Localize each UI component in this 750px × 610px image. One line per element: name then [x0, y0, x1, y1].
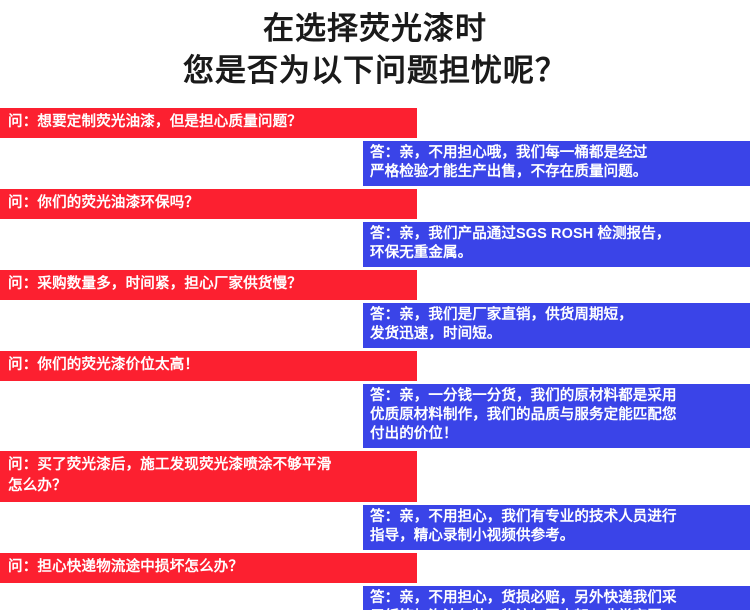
faq-question: 问：买了荧光漆后，施工发现荧光漆喷涂不够平滑 怎么办？ [0, 451, 417, 502]
faq-question: 问：你们的荧光漆价位太高！ [0, 351, 417, 381]
faq-item: 问：想要定制荧光油漆，但是担心质量问题？ 答：亲，不用担心哦，我们每一桶都是经过… [0, 108, 750, 189]
faq-promo-page: 在选择荧光漆时 您是否为以下问题担忧呢？ 问：想要定制荧光油漆，但是担心质量问题… [0, 0, 750, 610]
faq-answer: 答：亲，我们产品通过SGS ROSH 检测报告， 环保无重金属。 [363, 222, 750, 267]
faq-item: 问：担心快递物流途中损坏怎么办？ 答：亲，不用担心，货损必赔，另外快递我们采 用… [0, 553, 750, 610]
faq-answer: 答：亲，一分钱一分货，我们的原材料都是采用 优质原材料制作，我们的品质与服务定能… [363, 384, 750, 448]
faq-list: 问：想要定制荧光油漆，但是担心质量问题？ 答：亲，不用担心哦，我们每一桶都是经过… [0, 108, 750, 610]
faq-answer: 答：亲，我们是厂家直销，供货周期短， 发货迅速，时间短。 [363, 303, 750, 348]
faq-answer: 答：亲，不用担心，我们有专业的技术人员进行 指导，精心录制小视频供参考。 [363, 505, 750, 550]
page-header: 在选择荧光漆时 您是否为以下问题担忧呢？ [0, 0, 750, 92]
faq-question: 问：担心快递物流途中损坏怎么办？ [0, 553, 417, 583]
page-title-line-2: 您是否为以下问题担忧呢？ [0, 50, 750, 92]
page-title-line-1: 在选择荧光漆时 [0, 8, 750, 50]
faq-item: 问：采购数量多，时间紧，担心厂家供货慢？ 答：亲，我们是厂家直销，供货周期短， … [0, 270, 750, 351]
faq-answer: 答：亲，不用担心，货损必赔，另外快递我们采 用纸箱加泡沫包装，物流加固木架，非常… [363, 586, 750, 610]
faq-question: 问：采购数量多，时间紧，担心厂家供货慢？ [0, 270, 417, 300]
faq-question: 问：想要定制荧光油漆，但是担心质量问题？ [0, 108, 417, 138]
faq-item: 问：买了荧光漆后，施工发现荧光漆喷涂不够平滑 怎么办？ 答：亲，不用担心，我们有… [0, 451, 750, 553]
faq-answer: 答：亲，不用担心哦，我们每一桶都是经过 严格检验才能生产出售，不存在质量问题。 [363, 141, 750, 186]
faq-item: 问：你们的荧光漆价位太高！ 答：亲，一分钱一分货，我们的原材料都是采用 优质原材… [0, 351, 750, 451]
faq-item: 问：你们的荧光油漆环保吗？ 答：亲，我们产品通过SGS ROSH 检测报告， 环… [0, 189, 750, 270]
faq-question: 问：你们的荧光油漆环保吗？ [0, 189, 417, 219]
